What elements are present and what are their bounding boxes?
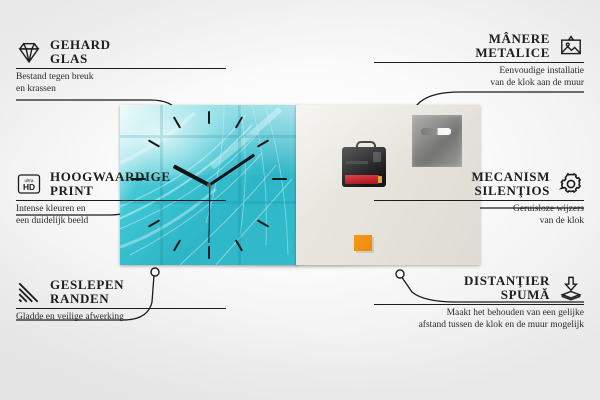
foam-spacer-icon: [558, 275, 584, 301]
feature-title: MECANISMSILENŢIOS: [472, 170, 550, 198]
infographic-canvas: GEHARDGLAS Bestand tegen breuken krassen…: [0, 0, 600, 400]
clock-center-hub: [207, 183, 211, 187]
feature-description: Maakt het behouden van een gelijkeafstan…: [374, 305, 584, 331]
ultra-hd-icon: ultra HD: [16, 171, 42, 197]
feature-description: Bestand tegen breuken krassen: [16, 69, 226, 95]
gear-icon: [558, 171, 584, 197]
movement-hook: [356, 141, 376, 151]
movement-dial: [373, 152, 381, 162]
diamond-icon: [16, 39, 42, 65]
feature-description: Eenvoudige installatievan de klok aan de…: [374, 63, 584, 89]
feature-geslepen-randen: GESLEPENRANDEN Gladde en veilige afwerki…: [16, 278, 226, 324]
feature-title: GEHARDGLAS: [50, 38, 111, 66]
feature-manere-metalice: MÂNEREMETALICE Eenvoudige installatievan…: [374, 32, 584, 89]
feature-distantier-spuma: DISTANŢIERSPUMĂ Maakt het behouden van e…: [374, 274, 584, 331]
feature-mecanism-silentios: MECANISMSILENŢIOS Geruisloze wijzersvan …: [374, 170, 584, 227]
feature-title: GESLEPENRANDEN: [50, 278, 124, 306]
feature-title: MÂNEREMETALICE: [475, 32, 550, 60]
feature-title: HOOGWAARDIGEPRINT: [50, 170, 171, 198]
feature-title: DISTANŢIERSPUMĂ: [464, 274, 550, 302]
feature-description: Geruisloze wijzersvan de klok: [374, 201, 584, 227]
foam-spacer: [354, 235, 372, 251]
beveled-edge-icon: [16, 279, 42, 305]
movement-detail: [346, 161, 368, 164]
feature-hoogwaardige-print: ultra HD HOOGWAARDIGEPRINT Intense kleur…: [16, 170, 226, 227]
svg-text:HD: HD: [23, 182, 35, 192]
feature-gehard-glas: GEHARDGLAS Bestand tegen breuken krassen: [16, 38, 226, 95]
picture-hanger-icon: [558, 33, 584, 59]
feature-description: Intense kleuren eneen duidelijk beeld: [16, 201, 226, 227]
hanger-slot: [421, 128, 451, 135]
feature-description: Gladde en veilige afwerking: [16, 309, 226, 324]
metal-hanger-plate: [412, 115, 462, 167]
